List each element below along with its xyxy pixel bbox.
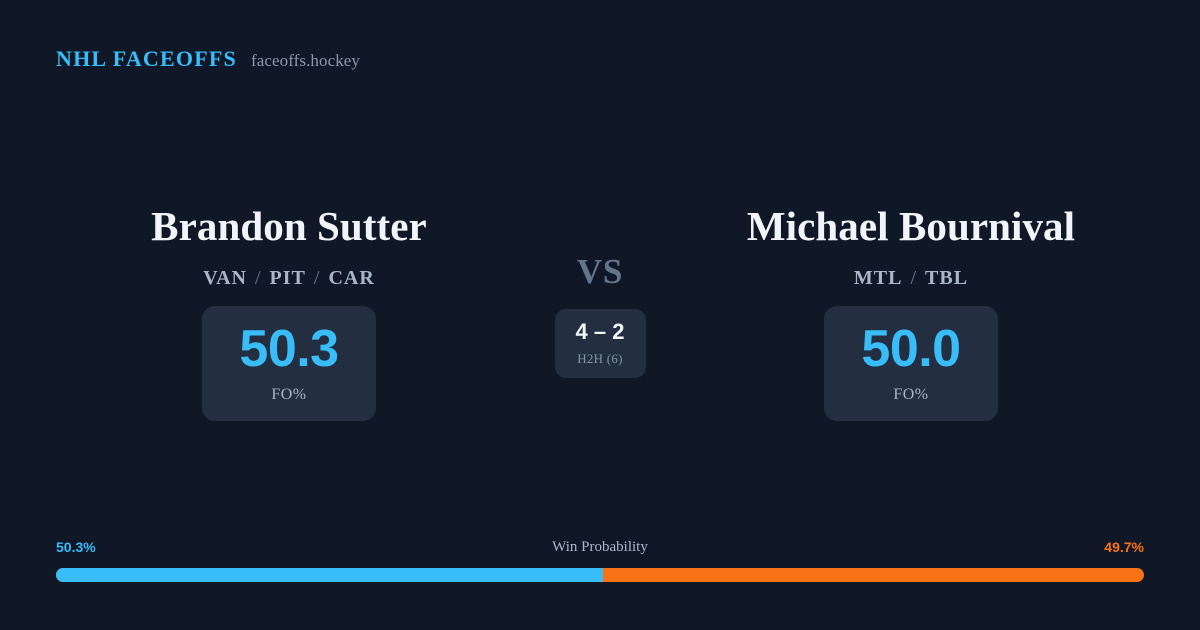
player-teams-left: VAN / PIT / CAR [54, 267, 524, 290]
win-probability-right-pct: 49.7% [1104, 537, 1144, 557]
brand-title: NHL FACEOFFS [56, 46, 237, 72]
team-abbr: PIT [270, 267, 306, 289]
player-teams-right: MTL / TBL [676, 267, 1146, 290]
player-name-right: Michael Bournival [676, 196, 1146, 247]
win-probability-bar [56, 568, 1144, 582]
team-separator: / [306, 267, 329, 289]
matchup-section: Brandon Sutter VAN / PIT / CAR 50.3 FO% … [0, 196, 1200, 431]
h2h-label: H2H (6) [577, 351, 623, 367]
team-abbr: CAR [328, 267, 374, 289]
faceoff-pct-label-right: FO% [893, 386, 928, 404]
h2h-score: 4 – 2 [576, 321, 625, 343]
team-separator: / [247, 267, 270, 289]
win-probability-left-pct: 50.3% [56, 537, 96, 557]
faceoff-pct-value-right: 50.0 [861, 323, 960, 375]
team-separator: / [902, 267, 925, 289]
team-abbr: VAN [203, 267, 247, 289]
matchup-card: NHL FACEOFFS faceoffs.hockey Brandon Sut… [0, 0, 1200, 630]
win-probability-bar-left-fill [56, 568, 603, 582]
brand-domain: faceoffs.hockey [251, 51, 360, 71]
win-probability-header: 50.3% Win Probability 49.7% [56, 537, 1144, 557]
team-abbr: TBL [925, 267, 968, 289]
h2h-badge: 4 – 2 H2H (6) [555, 309, 646, 378]
player-panel-left: Brandon Sutter VAN / PIT / CAR 50.3 FO% [54, 196, 524, 290]
faceoff-pct-value-left: 50.3 [239, 323, 338, 375]
player-panel-right: Michael Bournival MTL / TBL 50.0 FO% [676, 196, 1146, 290]
win-probability-section: 50.3% Win Probability 49.7% [56, 537, 1144, 582]
team-abbr: MTL [854, 267, 903, 289]
player-name-left: Brandon Sutter [54, 196, 524, 247]
brand-header: NHL FACEOFFS faceoffs.hockey [56, 46, 360, 72]
faceoff-stat-card-right: 50.0 FO% [824, 306, 998, 421]
faceoff-stat-card-left: 50.3 FO% [202, 306, 376, 421]
win-probability-title: Win Probability [552, 537, 648, 557]
versus-label: VS [500, 196, 700, 289]
versus-column: VS 4 – 2 H2H (6) [500, 196, 700, 378]
faceoff-pct-label-left: FO% [271, 386, 306, 404]
